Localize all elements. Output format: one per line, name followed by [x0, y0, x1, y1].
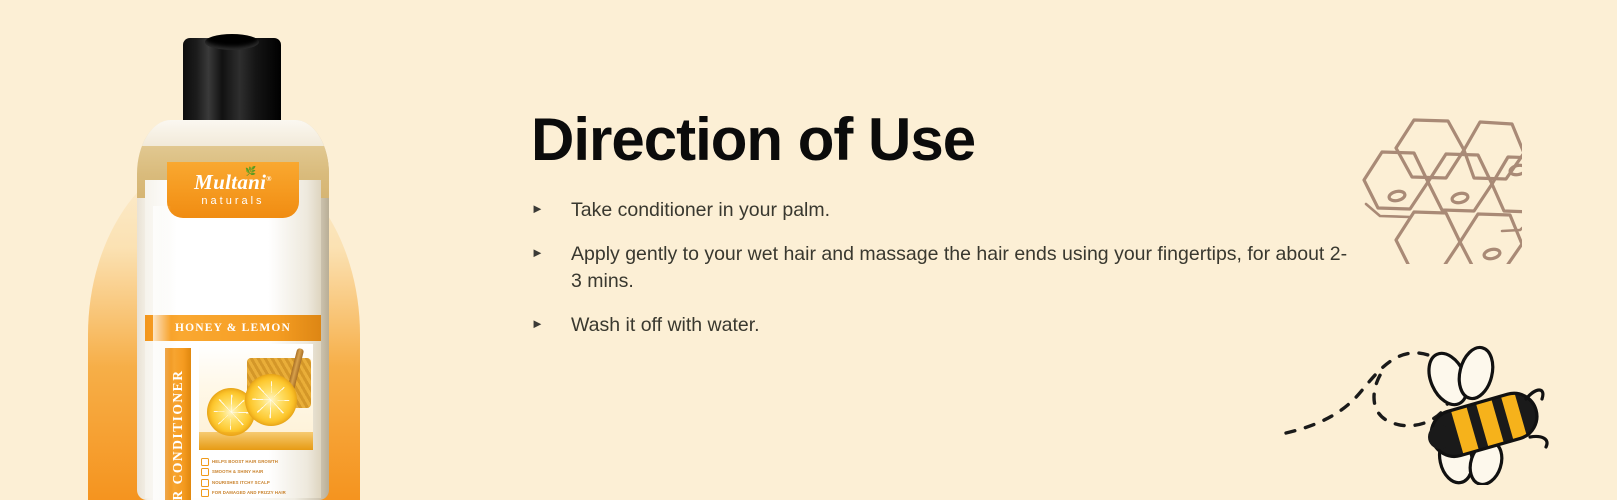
honeycomb-icon	[1352, 104, 1522, 264]
list-item: ► Wash it off with water.	[531, 312, 1351, 338]
feature-label: SMOOTH & SHINY HAIR	[212, 470, 263, 474]
check-icon	[201, 479, 209, 487]
feature-list: HELPS BOOST HAIR GROWTH SMOOTH & SHINY H…	[201, 458, 313, 500]
feature-item: HELPS BOOST HAIR GROWTH	[201, 458, 313, 466]
product-type-label: HAIR CONDITIONER	[170, 370, 186, 500]
steps-list: ► Take conditioner in your palm. ► Apply…	[531, 197, 1351, 338]
check-icon	[201, 458, 209, 466]
list-item: ► Apply gently to your wet hair and mass…	[531, 241, 1351, 294]
registered-mark: ®	[266, 175, 272, 183]
brand-shield: 🌿 Multani® naturals	[167, 162, 299, 218]
variant-band: HONEY & LEMON	[145, 315, 321, 341]
product-image: 🌿 Multani® naturals HONEY & LEMON HAIR C…	[0, 0, 440, 500]
honey-lemon-photo	[199, 344, 313, 450]
feature-label: HELPS BOOST HAIR GROWTH	[212, 460, 278, 464]
check-icon	[201, 489, 209, 497]
lemon-pulp	[214, 395, 249, 430]
page-title: Direction of Use	[531, 108, 1351, 171]
variant-label: HONEY & LEMON	[175, 322, 291, 334]
step-text: Take conditioner in your palm.	[571, 197, 830, 223]
feature-label: FOR DAMAGED AND FRIZZY HAIR	[212, 491, 286, 495]
product-type-strip: HAIR CONDITIONER	[165, 348, 191, 500]
step-text: Apply gently to your wet hair and massag…	[571, 241, 1351, 294]
triangle-right-icon: ►	[531, 197, 571, 215]
direction-of-use-banner: 🌿 Multani® naturals HONEY & LEMON HAIR C…	[0, 0, 1617, 500]
check-icon	[201, 468, 209, 476]
bottle-cap	[183, 38, 281, 126]
leaf-icon: 🌿	[245, 167, 256, 176]
cap-dimple	[205, 34, 259, 50]
honey-pool	[199, 432, 313, 450]
feature-item: FOR DAMAGED AND FRIZZY HAIR	[201, 489, 313, 497]
list-item: ► Take conditioner in your palm.	[531, 197, 1351, 223]
triangle-right-icon: ►	[531, 241, 571, 259]
feature-item: NOURISHES ITCHY SCALP	[201, 479, 313, 487]
lemon-pulp	[252, 381, 289, 418]
conditioner-bottle: 🌿 Multani® naturals HONEY & LEMON HAIR C…	[137, 38, 329, 500]
triangle-right-icon: ►	[531, 312, 571, 330]
text-content: Direction of Use ► Take conditioner in y…	[531, 108, 1351, 356]
bee-icon	[1280, 325, 1560, 485]
brand-subtitle: naturals	[167, 196, 299, 207]
product-foam	[137, 120, 329, 146]
feature-label: NOURISHES ITCHY SCALP	[212, 481, 270, 485]
lemon-half-right	[245, 374, 297, 426]
dashed-flight-path-icon	[1286, 353, 1451, 433]
feature-item: SMOOTH & SHINY HAIR	[201, 468, 313, 476]
bottle-body: 🌿 Multani® naturals HONEY & LEMON HAIR C…	[137, 120, 329, 500]
step-text: Wash it off with water.	[571, 312, 760, 338]
brand-name: Multani®	[167, 172, 299, 193]
